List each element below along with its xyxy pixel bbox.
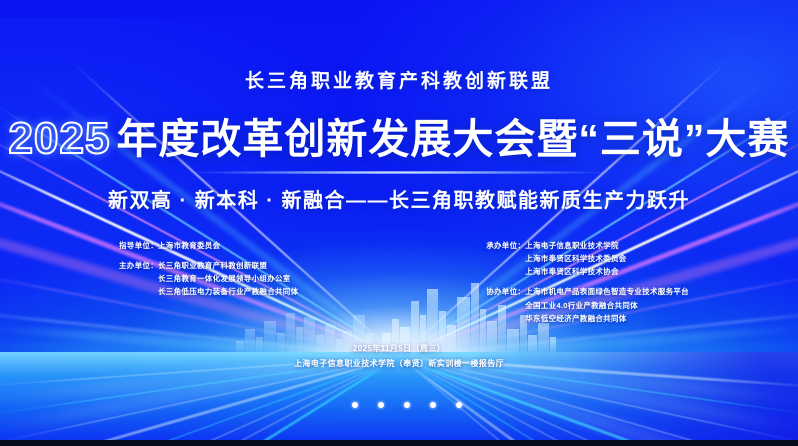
organizer-value: 全国工业4.0行业产教融合共同体 <box>525 299 689 312</box>
organizer-group: 承办单位：上海电子信息职业技术学院上海市奉贤区科学技术委员会上海市奉贤区科学技术… <box>486 239 689 278</box>
organizer-value: 长三角教育一体化发展领导小组办公室 <box>158 272 298 285</box>
organizer-label: 承办单位： <box>486 239 525 252</box>
banner-title: 2025 年度改革创新发展大会暨“三说”大赛 <box>9 105 790 165</box>
organizer-label: 主办单位： <box>119 259 158 272</box>
organizer-value: 上海电子信息职业技术学院 <box>525 239 626 252</box>
banner-kicker: 长三角职业教育产科教创新联盟 <box>245 66 553 93</box>
organizer-value: 上海市机电产品表面绿色智造专业技术服务平台 <box>525 285 689 298</box>
banner-content: 长三角职业教育产科教创新联盟 2025 年度改革创新发展大会暨“三说”大赛 新双… <box>0 0 798 446</box>
organizer-value: 上海市奉贤区科学技术协会 <box>525 265 626 278</box>
organizer-values: 长三角职业教育产科教创新联盟长三角教育一体化发展领导小组办公室长三角低压电力装备… <box>158 259 298 298</box>
organizer-group: 指导单位：上海市教育委员会 <box>119 239 298 252</box>
title-underline <box>119 171 679 174</box>
event-meta: 2025年11月5日（周三） 上海电子信息职业技术学院（奉贤）新实训楼一楼报告厅 <box>294 341 504 371</box>
organizer-value: 上海市教育委员会 <box>158 239 220 252</box>
organizer-values: 上海电子信息职业技术学院上海市奉贤区科学技术委员会上海市奉贤区科学技术协会 <box>525 239 626 278</box>
organizer-values: 上海市教育委员会 <box>158 239 220 252</box>
organizer-value: 长三角低压电力装备行业产教融合共同体 <box>158 285 298 298</box>
title-year: 2025 <box>9 114 117 164</box>
organizer-values: 上海市机电产品表面绿色智造专业技术服务平台全国工业4.0行业产教融合共同体华东低… <box>525 285 689 324</box>
organizer-value: 长三角职业教育产科教创新联盟 <box>158 259 298 272</box>
event-banner: 长三角职业教育产科教创新联盟 2025 年度改革创新发展大会暨“三说”大赛 新双… <box>0 0 798 446</box>
organizers-block: 指导单位：上海市教育委员会主办单位：长三角职业教育产科教创新联盟长三角教育一体化… <box>119 239 679 325</box>
organizer-value: 华东低空经济产教融合共同体 <box>525 312 689 325</box>
organizer-label: 协办单位： <box>486 285 525 298</box>
event-venue: 上海电子信息职业技术学院（奉贤）新实训楼一楼报告厅 <box>294 356 504 371</box>
organizer-group: 主办单位：长三角职业教育产科教创新联盟长三角教育一体化发展领导小组办公室长三角低… <box>119 259 298 298</box>
organizer-value: 上海市奉贤区科学技术委员会 <box>525 252 626 265</box>
organizers-left-column: 指导单位：上海市教育委员会主办单位：长三角职业教育产科教创新联盟长三角教育一体化… <box>119 239 298 325</box>
banner-subtitle: 新双高 · 新本科 · 新融合——长三角职教赋能新质生产力跃升 <box>108 184 690 213</box>
event-date: 2025年11月5日（周三） <box>294 341 504 356</box>
organizer-group: 协办单位：上海市机电产品表面绿色智造专业技术服务平台全国工业4.0行业产教融合共… <box>486 285 689 324</box>
organizers-right-column: 承办单位：上海电子信息职业技术学院上海市奉贤区科学技术委员会上海市奉贤区科学技术… <box>486 239 689 325</box>
organizer-label: 指导单位： <box>119 239 158 252</box>
title-main: 年度改革创新发展大会暨“三说”大赛 <box>116 105 789 165</box>
